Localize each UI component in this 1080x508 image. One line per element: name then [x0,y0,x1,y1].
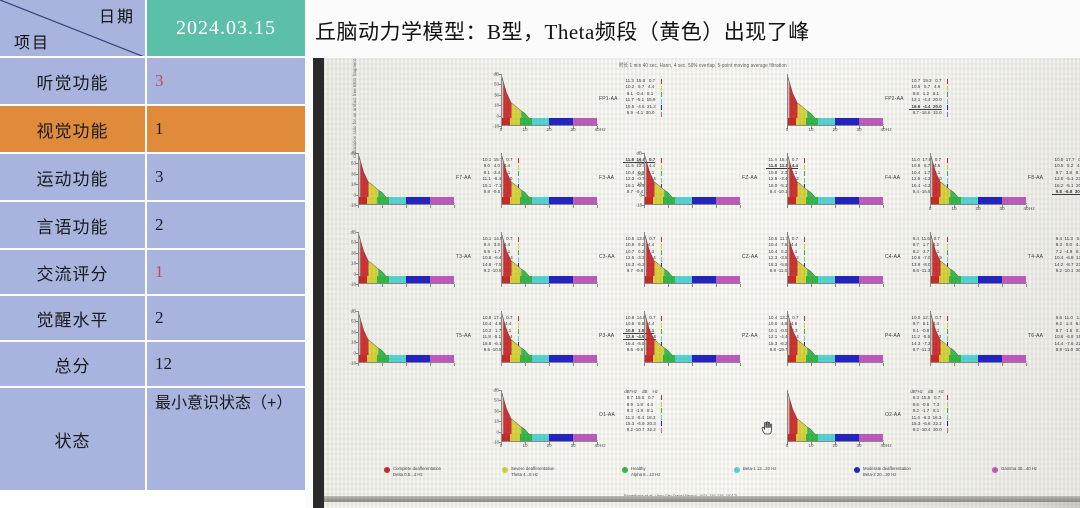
x-tick-mark [668,205,669,208]
frequency-band-strip [359,355,455,362]
table-header-row: 日期 项目 2024.03.15 [0,0,305,58]
electrode-panel-c3-aa: C3-AA 10.8 13.9 0.7 10.9 9.2 4.4 10.7 0.… [501,232,644,311]
band-alpha [663,197,675,204]
band-gamma [573,197,597,204]
band-beta-2 [549,434,573,441]
x-tick-mark [644,284,645,287]
row-color-keys [661,395,662,434]
row-label-5: 觉醒水平 [0,296,147,340]
x-tick-mark [716,363,717,366]
legend-label: Gamma 30...40 Hz [1001,466,1037,472]
row-value-7: 最小意识状态（+） [147,388,305,490]
row-color-key [947,92,948,97]
y-axis-title: Calculation ratio for an artifact free E… [352,58,357,158]
row-value-0: 3 [147,58,305,104]
x-tick-mark [430,205,431,208]
spectrum-plot [501,153,597,205]
row-value-5: 2 [147,296,305,340]
row-color-key [661,428,662,433]
x-tick-mark [597,363,598,366]
band-gamma [716,355,740,362]
x-tick-mark [597,205,598,208]
electrode-label: C3-AA [599,254,615,260]
legend-color-dot [622,467,628,473]
x-tick-mark [1026,363,1027,366]
frequency-band-strip [788,197,884,204]
band-beta-2 [835,118,859,125]
x-tick-mark [406,363,407,366]
x-tick-mark [740,363,741,366]
band-delta [788,276,796,283]
spectrum-plot [644,232,740,284]
table-row: 觉醒水平2 [0,296,305,342]
table-row: 总分12 [0,342,305,388]
band-delta [645,355,653,362]
band-beta-1 [389,276,406,283]
x-tick-mark [525,363,526,366]
band-alpha [520,276,532,283]
band-theta [510,276,520,283]
x-tick-mark [406,284,407,287]
band-delta [359,276,367,283]
row-color-key [661,421,662,426]
x-tick-mark [1002,284,1003,287]
row-color-key [661,99,662,104]
band-alpha [377,276,389,283]
table-corner-diagonal-header: 日期 项目 [0,0,147,56]
x-tick-label: 0 [786,127,789,132]
x-tick-mark [525,205,526,208]
spectrum-plot [787,311,883,363]
frequency-band-strip [788,434,884,441]
x-tick-mark [883,363,884,366]
band-delta [788,118,796,125]
row-color-key [947,79,948,84]
x-axis-unit: Hz [600,443,606,448]
legend-color-dot [502,467,508,473]
row-value-3: 2 [147,202,305,248]
band-alpha [806,434,818,441]
x-tick-mark [954,363,955,366]
legend-label: HealthyAlpha 8...13 Hz [631,466,660,478]
band-theta [653,355,663,362]
band-legend: Complete deafferentationDelta 0.5...4 Hz… [384,464,1080,486]
band-alpha [520,118,532,125]
x-tick-mark [406,205,407,208]
band-gamma [430,276,454,283]
row-color-keys [947,79,948,118]
row-color-key [661,408,662,413]
band-theta [796,276,806,283]
row-color-key [947,99,948,104]
legend-item-1: Severe deafferentationTheta 4...8 Hz [502,466,554,478]
electrode-panel-fz-aa: dB5336180-18FZ-AA 11.4 15.4 0.7 11.8 11.… [644,153,787,232]
band-beta-1 [532,276,549,283]
band-delta [645,276,653,283]
band-alpha [949,355,961,362]
frequency-band-strip [359,276,455,283]
table-row: 交流评分1 [0,250,305,296]
x-tick-label: 0 [500,127,503,132]
band-beta-1 [389,197,406,204]
legend-label: Severe deafferentationTheta 4...8 Hz [511,466,554,478]
x-tick-mark [978,363,979,366]
spectrum-plot [501,311,597,363]
x-tick-label: 40 [594,127,599,132]
band-theta [939,355,949,362]
electrode-panel-f3-aa: F3-AA 11.8 16.0 0.7 11.5 12.4 4.4 10.4 0… [501,153,644,232]
row-label-1: 视觉功能 [0,106,147,152]
band-delta [502,276,510,283]
electrode-label: O2-AA [885,412,901,418]
spectrum-plot: 010203040Hz [930,153,1026,205]
frequency-band-strip [931,355,1027,362]
x-tick-mark [644,363,645,366]
x-tick-label: 0 [929,206,932,211]
band-alpha [377,197,389,204]
row-value-1: 1 [147,106,305,152]
x-tick-mark [454,205,455,208]
x-tick-mark [573,284,574,287]
x-tick-mark [382,363,383,366]
row-value-6: 12 [147,342,305,386]
x-tick-mark [549,284,550,287]
slide-root: 日期 项目 2024.03.15 听觉功能3视觉功能1运动功能3言语功能2交流评… [0,0,1080,508]
frequency-band-strip [502,197,598,204]
electrode-label: PZ-AA [742,333,758,339]
x-tick-mark [740,205,741,208]
electrode-label: FZ-AA [742,175,757,181]
frequency-band-strip [502,434,598,441]
row-color-key [947,105,948,110]
electrode-label: O1-AA [599,412,615,418]
panel-value-table: 10.5 17.7 0.7 10.5 5.2 4.6 9.7 3.8 8.1 1… [1052,157,1080,195]
frequency-band-strip [645,355,741,362]
electrode-panel-p4-aa: P4-AA 10.0 12.7 0.7 9.7 5.1 4.4 9.1 -0.9… [787,311,930,390]
row-color-key [661,79,662,84]
x-axis-unit: Hz [886,127,892,132]
row-label-0: 听觉功能 [0,58,147,104]
panel-value-table: 9.4 11.3 0.7 8.3 0.0 4.4 7.2 -4.9 8.1 10… [1052,236,1080,274]
electrode-label: T4-AA [1028,254,1043,260]
photo-bottom-shadow [324,496,1080,502]
band-alpha [806,118,818,125]
x-tick-mark [883,284,884,287]
band-beta-1 [818,197,835,204]
legend-item-2: HealthyAlpha 8...13 Hz [622,466,660,478]
spectrum-plot: dB5336180-18 [644,153,740,205]
band-theta [939,276,949,283]
x-tick-mark [930,363,931,366]
band-gamma [859,434,883,441]
x-tick-mark [1002,363,1003,366]
panel-value-table: 11.3 15.8 0.7 10.2 5.7 4.4 9.1 -0.4 8.1 … [623,78,656,116]
row-color-keys [947,395,948,434]
band-gamma [859,118,883,125]
x-tick-mark [811,205,812,208]
x-tick-label: 10 [522,443,527,448]
band-alpha [806,355,818,362]
band-delta [502,355,510,362]
electrode-label: T5-AA [456,333,471,339]
band-delta [502,118,510,125]
x-tick-mark [358,363,359,366]
table-row: 视觉功能1 [0,106,305,154]
x-tick-mark [692,205,693,208]
x-tick-label: 20 [546,443,551,448]
row-color-key [661,86,662,91]
electrode-label: T3-AA [456,254,471,260]
row-color-key [947,402,948,407]
x-axis-unit: Hz [600,127,606,132]
x-tick-mark [382,284,383,287]
x-tick-label: 30 [570,443,575,448]
frequency-band-strip [645,276,741,283]
x-tick-mark [644,205,645,208]
band-gamma [859,276,883,283]
x-tick-mark [716,205,717,208]
legend-label: Beta-1 13...20 Hz [743,466,776,472]
x-tick-label: 0 [786,443,789,448]
table-bottom-filler [0,492,305,508]
band-theta [510,355,520,362]
x-tick-label: 10 [522,127,527,132]
x-tick-mark [549,363,550,366]
x-tick-mark [549,205,550,208]
spectrum-plot: dB5336180-18 [358,232,454,284]
x-tick-mark [597,284,598,287]
x-tick-mark [978,284,979,287]
band-beta-2 [978,355,1002,362]
band-alpha [520,355,532,362]
electrode-panel-p3-aa: P3-AA 10.9 14.8 0.7 10.6 6.8 4.4 10.8 1.… [501,311,644,390]
band-theta [796,434,806,441]
band-beta-2 [406,276,430,283]
band-gamma [1002,276,1026,283]
row-color-key [947,428,948,433]
electrode-panel-o2-aa: 010203040HzO2-AA dB*Hz dB Hz 9.3 15.6 0.… [787,390,930,469]
crs-score-table: 日期 项目 2024.03.15 听觉功能3视觉功能1运动功能3言语功能2交流评… [0,0,305,508]
table-row: 言语功能2 [0,202,305,250]
x-tick-label: 40 [880,443,885,448]
band-theta [510,118,520,125]
band-theta [367,276,377,283]
x-tick-mark [740,284,741,287]
header-date-value: 2024.03.15 [147,0,305,56]
frequency-band-strip [788,276,884,283]
table-row: 状态最小意识状态（+） [0,388,305,492]
band-gamma [573,276,597,283]
x-tick-mark [787,284,788,287]
electrode-label: P3-AA [599,333,614,339]
row-color-key [947,86,948,91]
electrode-panel-fp2-aa: 010203040HzFP2-AA 10.7 19.3 0.7 10.5 5.7… [787,74,930,153]
x-tick-label: 20 [832,127,837,132]
electrode-panel-o1-aa: dB5336180-18010203040HzO1-AA dB*Hz dB Hz… [501,390,644,469]
x-tick-mark [835,205,836,208]
spectrum-plot [930,311,1026,363]
band-delta [788,197,796,204]
electrode-panel-f8-aa: 010203040HzF8-AA 10.5 17.7 0.7 10.5 5.2 … [930,153,1073,232]
band-theta [653,276,663,283]
row-label-4: 交流评分 [0,250,147,294]
x-tick-mark [382,205,383,208]
x-tick-mark [835,284,836,287]
x-tick-label: 40 [1023,206,1028,211]
panel-value-table: 9.6 11.0 1.0 9.2 1.4 6.8 8.7 -1.6 8.1 10… [1052,315,1080,353]
row-label-3: 言语功能 [0,202,147,248]
band-beta-1 [818,276,835,283]
frequency-band-strip [645,197,741,204]
x-tick-mark [501,205,502,208]
electrode-panel-t5-aa: dB5336180-18T5-AA 10.8 17.4 0.7 10.4 4.9… [358,311,501,390]
band-beta-1 [675,276,692,283]
x-tick-label: 10 [951,206,956,211]
electrode-panel-cz-aa: CZ-AA 10.5 11.7 0.7 10.4 7.6 4.4 10.4 0.… [644,232,787,311]
row-color-key [661,105,662,110]
x-axis-unit: Hz [886,443,892,448]
band-beta-1 [532,118,549,125]
x-tick-mark [859,205,860,208]
row-label-2: 运动功能 [0,154,147,200]
band-delta [788,355,796,362]
band-beta-2 [406,355,430,362]
electrode-panel-t4-aa: T4-AA 9.4 11.3 0.7 8.3 0.0 4.4 7.2 -4.9 … [930,232,1073,311]
band-theta [939,197,949,204]
electrode-label: F7-AA [456,175,471,181]
band-theta [367,197,377,204]
band-gamma [573,355,597,362]
electrode-label: T6-AA [1028,333,1043,339]
row-color-key [947,415,948,420]
x-tick-label: 20 [546,127,551,132]
panel-value-table: 10.7 19.3 0.7 10.5 5.7 4.6 9.8 1.2 8.1 1… [909,78,942,116]
row-value-4: 1 [147,250,305,294]
panel-value-table: dB*Hz dB Hz 9.3 15.6 0.7 8.6 -0.6 7.3 9.… [909,389,944,434]
spectrum-plot [787,232,883,284]
legend-label: Complete deafferentationDelta 0.5...4 Hz [393,466,441,478]
spectrum-plot: 010203040Hz [787,390,883,442]
frequency-band-strip [788,118,884,125]
x-tick-mark [692,363,693,366]
x-tick-mark [835,363,836,366]
row-value-2: 3 [147,154,305,200]
electrode-label: F3-AA [599,175,614,181]
electrode-panel-t3-aa: dB5336180-18T3-AA 10.1 14.5 0.7 9.4 3.8 … [358,232,501,311]
frequency-band-strip [788,355,884,362]
band-gamma [430,197,454,204]
band-beta-2 [692,276,716,283]
band-gamma [573,118,597,125]
x-tick-label: 30 [856,443,861,448]
row-color-key [661,395,662,400]
band-beta-1 [389,355,406,362]
row-label-7: 状态 [0,388,147,490]
band-delta [359,197,367,204]
report-header-note: 时长 1 min 40 sec, Hann, 4 sec, 50% overla… [619,62,787,70]
electrode-label: CZ-AA [742,254,758,260]
legend-item-3: Beta-1 13...20 Hz [734,466,776,473]
band-gamma [573,434,597,441]
x-tick-label: 30 [856,127,861,132]
band-beta-2 [978,197,1002,204]
x-tick-mark [573,363,574,366]
row-color-key [947,421,948,426]
x-tick-mark [501,284,502,287]
legend-label: Moderate deafferentationBeta-2 20...30 H… [863,466,911,478]
band-gamma [1002,197,1026,204]
x-tick-label: 10 [808,127,813,132]
band-beta-1 [532,434,549,441]
x-tick-mark [454,284,455,287]
electrode-label: F8-AA [1028,175,1043,181]
row-color-key [661,112,662,117]
spectrum-plot: dB5336180-18010203040Hz [501,74,597,126]
legend-item-0: Complete deafferentationDelta 0.5...4 Hz [384,466,441,478]
band-beta-1 [532,197,549,204]
band-delta [502,434,510,441]
spectrum-plot: 010203040Hz [787,74,883,126]
row-color-keys [661,79,662,118]
x-tick-mark [787,205,788,208]
x-tick-mark [787,363,788,366]
electrode-label: F4-AA [885,175,900,181]
panel-value-table: dB*Hz dB Hz 9.7 15.5 0.7 8.9 1.8 4.4 9.3… [623,389,658,434]
hand-pointer-cursor-icon [761,421,773,435]
x-tick-mark [859,284,860,287]
band-beta-1 [961,276,978,283]
x-tick-mark [811,363,812,366]
header-item-label: 项目 [14,29,50,53]
x-tick-label: 40 [594,443,599,448]
band-alpha [663,355,675,362]
slide-title: 丘脑动力学模型：B型，Theta频段（黄色）出现了峰 [315,16,1075,46]
x-tick-mark [811,284,812,287]
row-color-key [947,112,948,117]
band-beta-2 [549,276,573,283]
legend-color-dot [384,467,390,473]
x-tick-label: 20 [832,443,837,448]
x-tick-mark [573,205,574,208]
band-beta-1 [532,355,549,362]
band-alpha [806,276,818,283]
band-gamma [859,355,883,362]
band-theta [796,118,806,125]
electrode-panel-pz-aa: PZ-AA 10.4 13.2 0.7 10.0 4.8 4.6 10.1 -0… [644,311,787,390]
band-gamma [1002,355,1026,362]
x-tick-mark [454,363,455,366]
x-tick-mark [1026,284,1027,287]
legend-item-4: Moderate deafferentationBeta-2 20...30 H… [854,466,911,478]
legend-color-dot [992,467,998,473]
legend-item-5: Gamma 30...40 Hz [992,466,1037,473]
electrode-panel-f4-aa: F4-AA 11.0 17.8 0.7 10.8 6.7 4.6 10.4 1.… [787,153,930,232]
x-tick-label: 30 [570,127,575,132]
band-beta-2 [549,118,573,125]
x-tick-mark [668,284,669,287]
band-theta [510,434,520,441]
band-delta [931,276,939,283]
band-beta-1 [961,197,978,204]
electrode-panel-t6-aa: T6-AA 9.6 11.0 1.0 9.2 1.4 6.8 8.7 -1.6 … [930,311,1073,390]
band-delta [931,197,939,204]
band-alpha [949,197,961,204]
x-tick-mark [716,284,717,287]
right-content-panel: 丘脑动力学模型：B型，Theta频段（黄色）出现了峰 时长 1 min 40 s… [305,0,1080,508]
x-tick-label: 20 [975,206,980,211]
band-theta [653,197,663,204]
electrode-label: FP2-AA [885,96,904,102]
